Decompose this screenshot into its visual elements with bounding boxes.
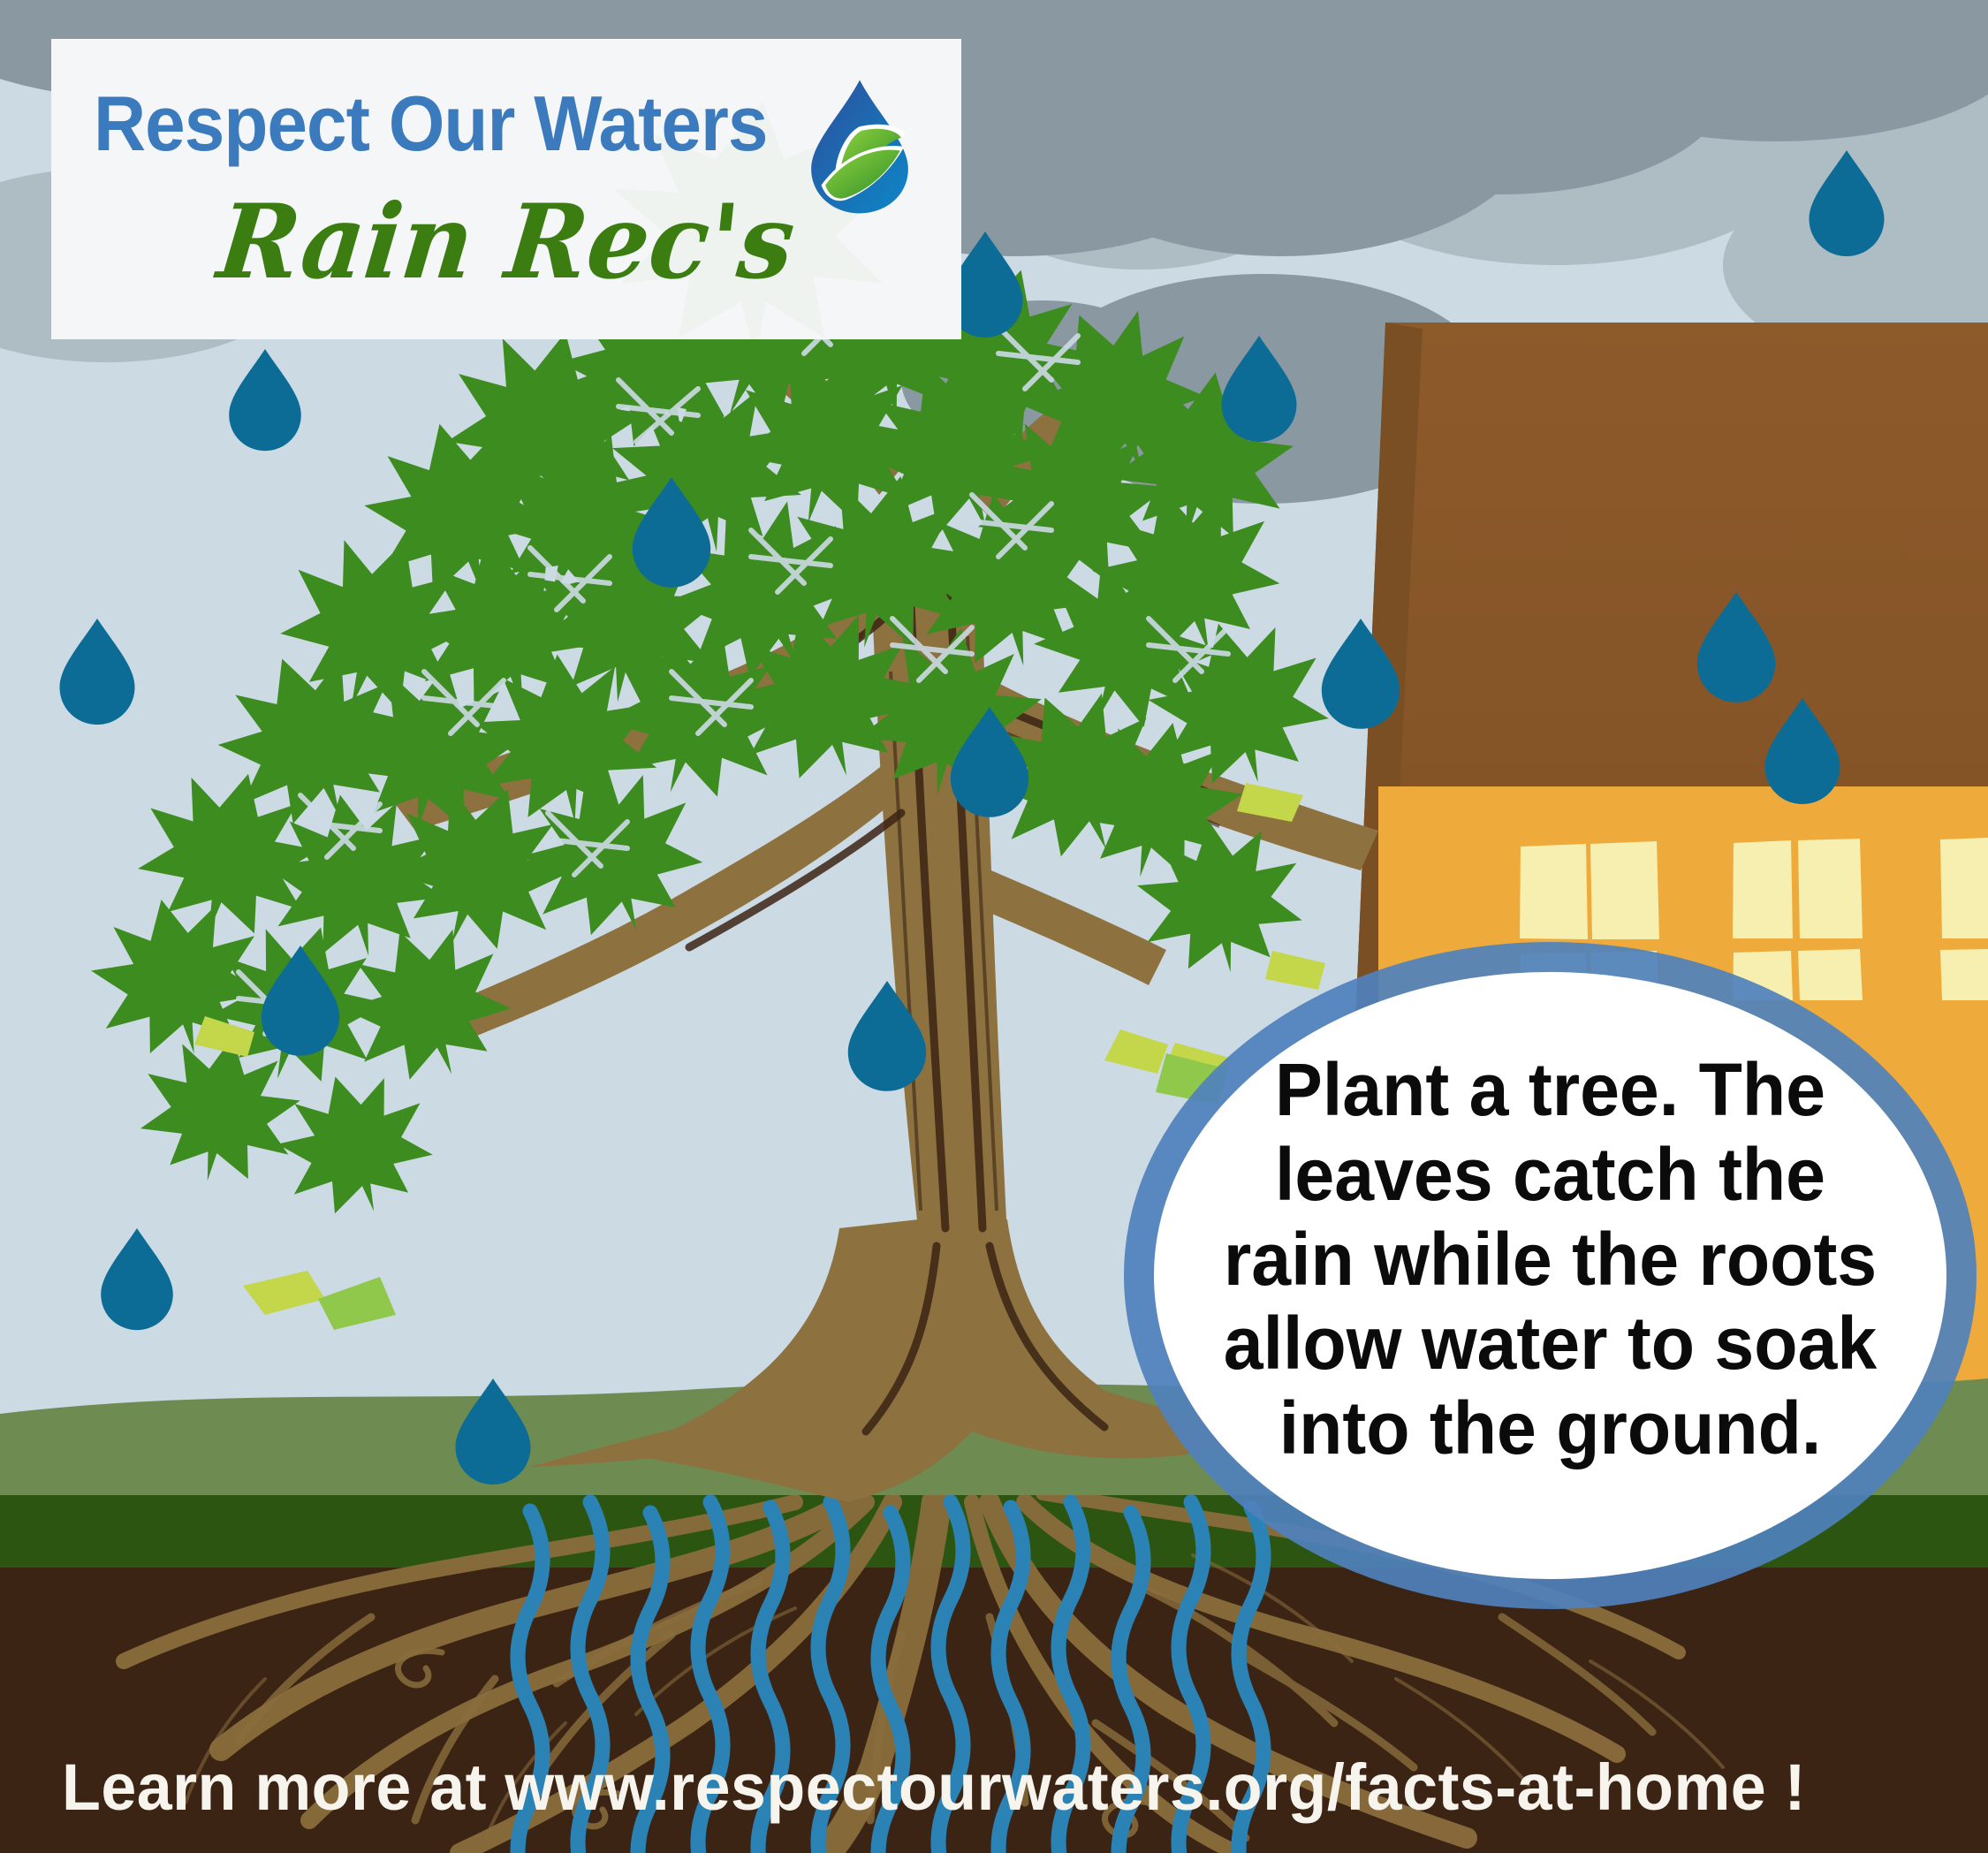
logo-card: Respect Our Waters Rain Rec's <box>51 39 961 339</box>
soil-layer <box>0 1568 1988 1853</box>
water-drop-with-leaves-icon <box>798 76 922 217</box>
infographic-poster: Respect Our Waters Rain Rec's Plant a tr… <box>0 0 1988 1853</box>
speech-bubble-text: Plant a tree. The leaves catch the rain … <box>1222 1048 1878 1471</box>
logo-title: Respect Our Waters <box>94 85 767 163</box>
speech-bubble: Plant a tree. The leaves catch the rain … <box>1124 942 1977 1609</box>
